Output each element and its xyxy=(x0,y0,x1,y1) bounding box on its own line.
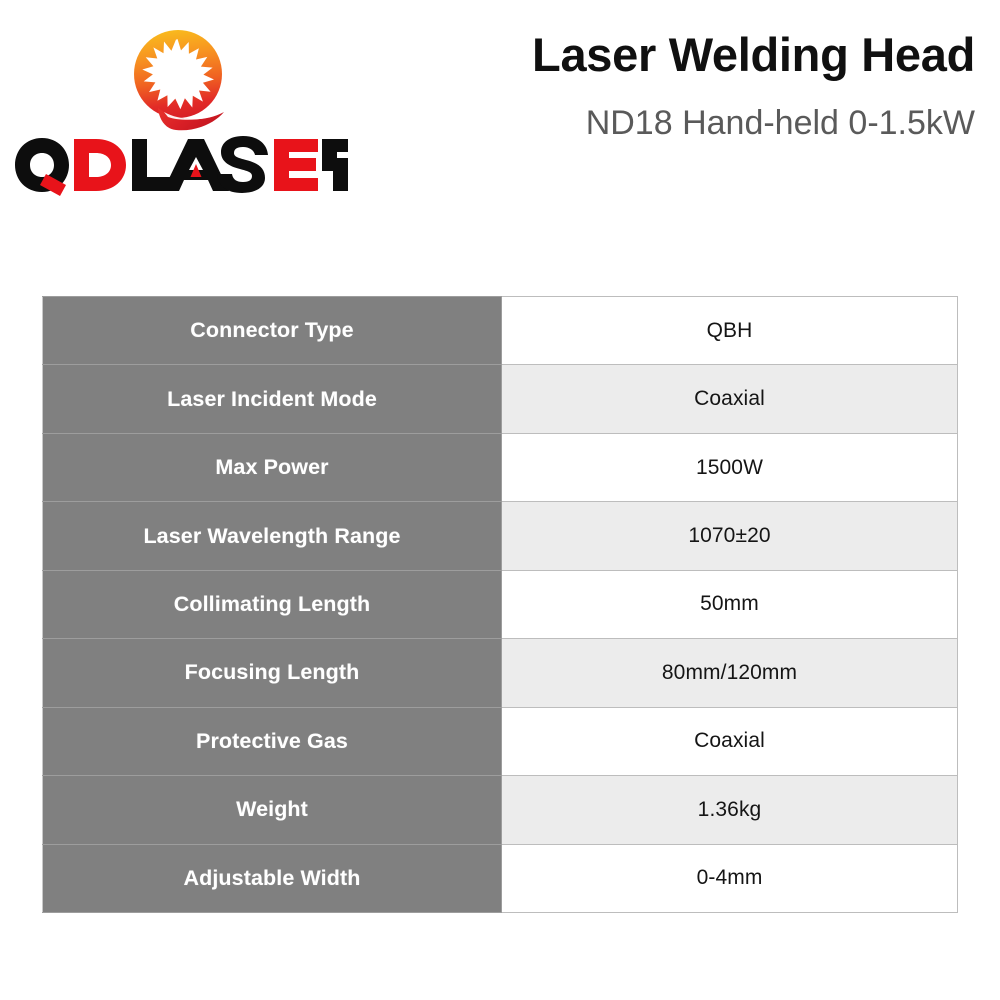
specification-table: Connector TypeQBHLaser Incident ModeCoax… xyxy=(42,296,958,913)
spec-row-key: Laser Wavelength Range xyxy=(43,502,502,570)
spec-row-key: Protective Gas xyxy=(43,707,502,775)
brand-logo-block xyxy=(8,8,348,203)
spec-row-key: Collimating Length xyxy=(43,570,502,638)
spec-row-key: Max Power xyxy=(43,433,502,501)
spec-row-value: 50mm xyxy=(502,570,958,638)
spec-row: Adjustable Width0-4mm xyxy=(43,844,958,912)
page-title: Laser Welding Head xyxy=(355,28,975,82)
title-block: Laser Welding Head ND18 Hand-held 0-1.5k… xyxy=(355,28,975,143)
page-subtitle: ND18 Hand-held 0-1.5kW xyxy=(355,104,975,143)
spec-row: Protective GasCoaxial xyxy=(43,707,958,775)
spec-row: Focusing Length80mm/120mm xyxy=(43,639,958,707)
spec-row-key: Focusing Length xyxy=(43,639,502,707)
spec-row: Laser Wavelength Range1070±20 xyxy=(43,502,958,570)
spec-row-value: Coaxial xyxy=(502,707,958,775)
spec-row: Max Power1500W xyxy=(43,433,958,501)
spec-row: Laser Incident ModeCoaxial xyxy=(43,365,958,433)
spec-row: Weight1.36kg xyxy=(43,776,958,844)
product-spec-page: Laser Welding Head ND18 Hand-held 0-1.5k… xyxy=(0,0,1000,1000)
spec-row-value: 0-4mm xyxy=(502,844,958,912)
spec-row: Connector TypeQBH xyxy=(43,297,958,365)
spec-row: Collimating Length50mm xyxy=(43,570,958,638)
spec-row-value: QBH xyxy=(502,297,958,365)
spec-row-key: Connector Type xyxy=(43,297,502,365)
brand-wordmark xyxy=(8,134,348,196)
spec-row-key: Laser Incident Mode xyxy=(43,365,502,433)
spec-row-value: 1070±20 xyxy=(502,502,958,570)
sun-burst-swoosh-icon xyxy=(120,20,236,132)
spec-row-key: Weight xyxy=(43,776,502,844)
specification-table-body: Connector TypeQBHLaser Incident ModeCoax… xyxy=(43,297,958,913)
spec-row-key: Adjustable Width xyxy=(43,844,502,912)
spec-row-value: 80mm/120mm xyxy=(502,639,958,707)
spec-row-value: 1.36kg xyxy=(502,776,958,844)
page-header: Laser Welding Head ND18 Hand-held 0-1.5k… xyxy=(0,0,1000,230)
spec-row-value: Coaxial xyxy=(502,365,958,433)
spec-row-value: 1500W xyxy=(502,433,958,501)
